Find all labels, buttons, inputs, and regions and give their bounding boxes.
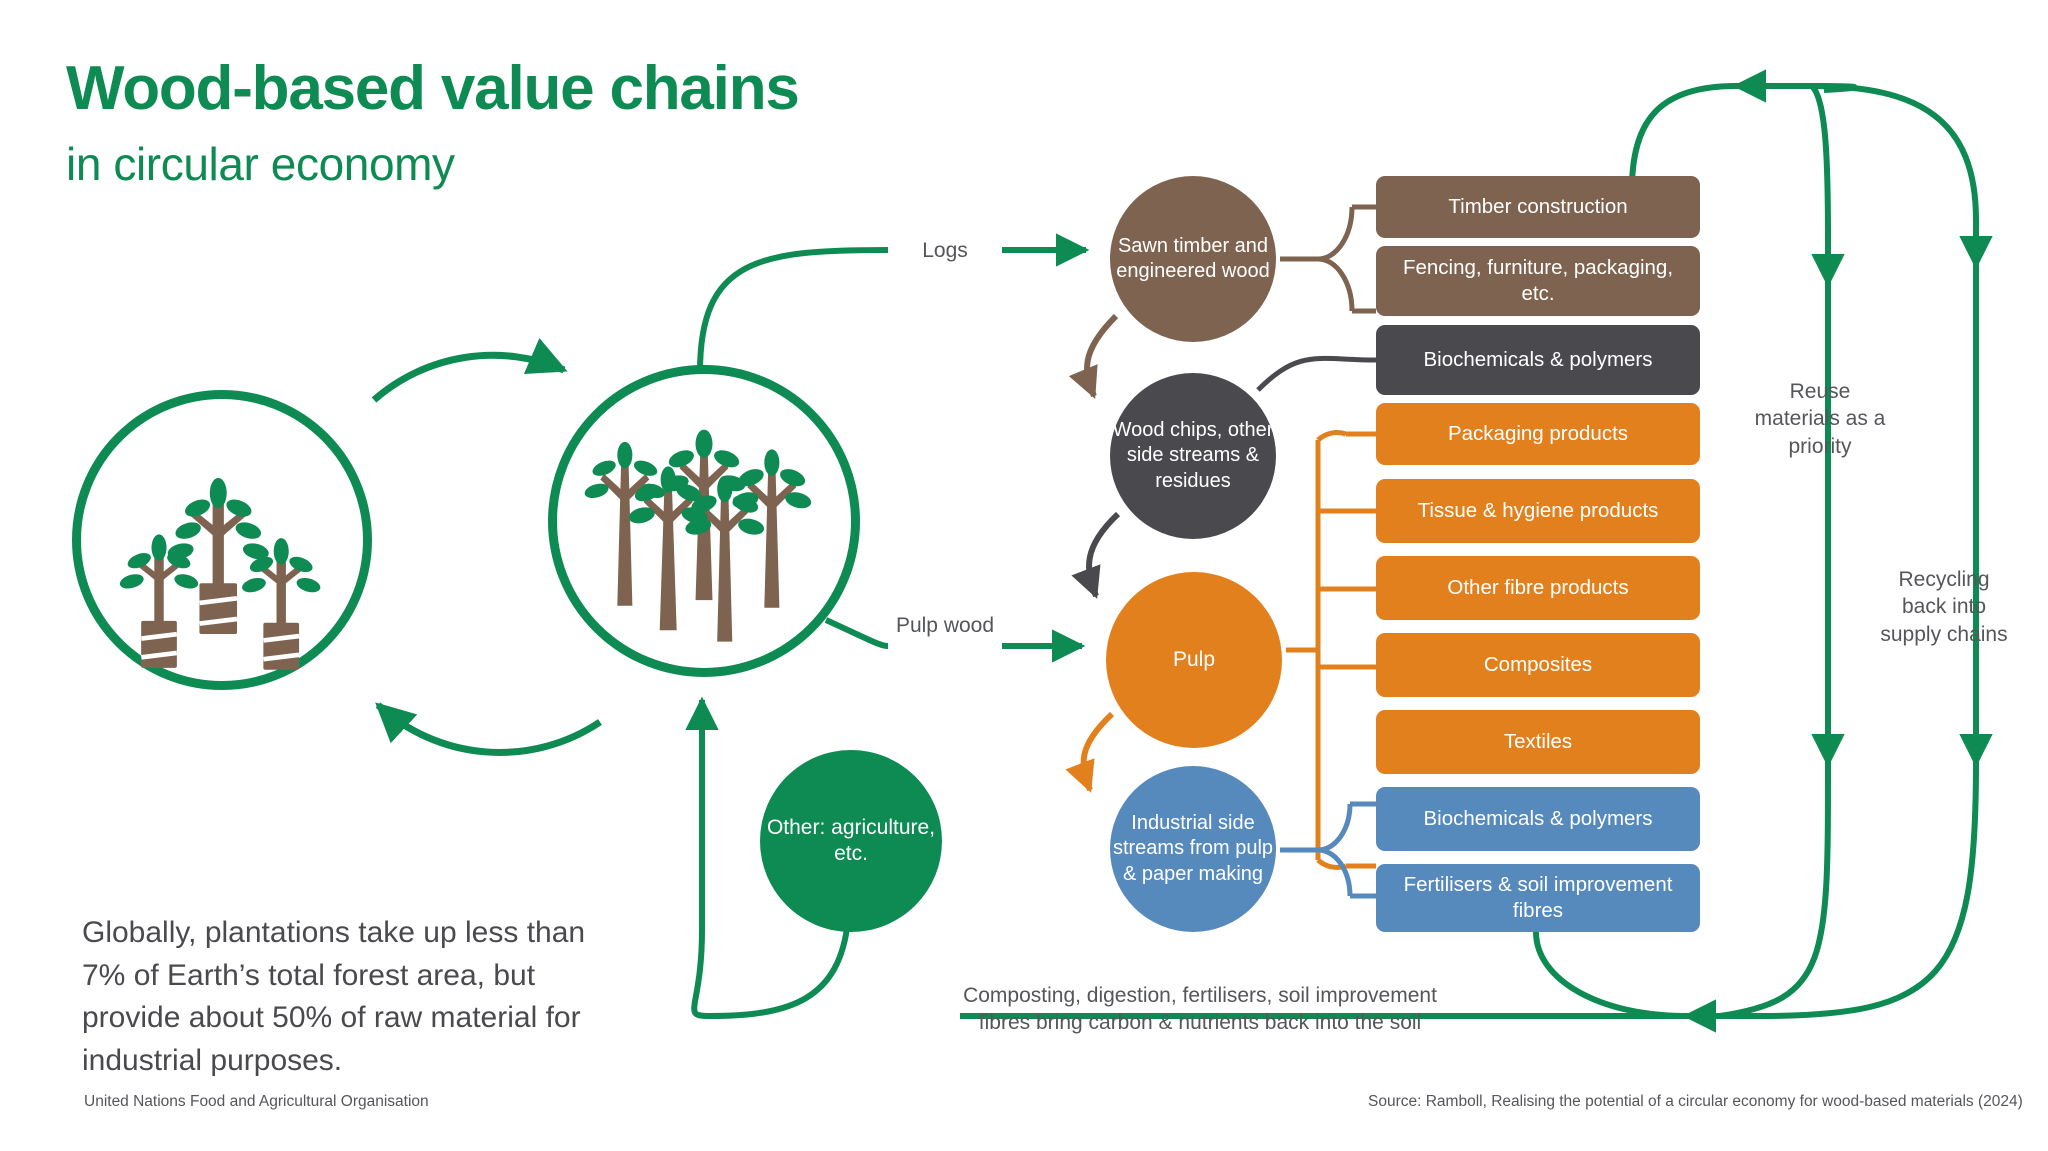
- tree-saplings-icon: [72, 390, 372, 690]
- flow-label-pulp-wood: Pulp wood: [895, 612, 995, 639]
- infographic-canvas: Wood-based value chains in circular econ…: [0, 0, 2048, 1151]
- flow-label-reuse: Reuse materials as a priority: [1750, 378, 1890, 460]
- reuse-loop: [1632, 86, 1854, 183]
- chips-product-connector: [1258, 358, 1376, 390]
- flow-label-composting: Composting, digestion, fertilisers, soil…: [960, 982, 1440, 1037]
- product-box-fertilisers-soil[interactable]: Fertilisers & soil improvement fibres: [1376, 864, 1700, 932]
- product-box-biochemicals-polymers-pulp[interactable]: Biochemicals & polymers: [1376, 787, 1700, 851]
- flow-label-logs: Logs: [895, 237, 995, 264]
- sawn-product-bracket: [1280, 207, 1376, 311]
- product-box-textiles[interactable]: Textiles: [1376, 710, 1700, 774]
- product-box-packaging-products[interactable]: Packaging products: [1376, 403, 1700, 465]
- report-source-citation: Source: Ramboll, Realising the potential…: [1368, 1093, 2023, 1111]
- reuse-downstream: [1720, 86, 1828, 1016]
- product-label: Biochemicals & polymers: [1424, 806, 1653, 832]
- statistic-source: United Nations Food and Agricultural Org…: [84, 1093, 429, 1111]
- product-label: Textiles: [1504, 729, 1572, 755]
- pulp-product-bracket: [1286, 433, 1376, 868]
- product-label: Biochemicals & polymers: [1424, 347, 1653, 373]
- node-industrial-side-streams-label: Industrial side streams from pulp & pape…: [1110, 811, 1276, 887]
- product-box-tissue-hygiene[interactable]: Tissue & hygiene products: [1376, 479, 1700, 543]
- recycling-loop: [1760, 86, 1976, 1016]
- other-to-forest-arrow: [694, 700, 710, 1016]
- node-pulp-label: Pulp: [1173, 647, 1215, 673]
- statistic-statement: Globally, plantations take up less than …: [82, 912, 602, 1082]
- pulp-to-sidestreams-arrow: [1084, 714, 1112, 790]
- node-wood-chips[interactable]: Wood chips, other side streams & residue…: [1110, 373, 1276, 539]
- forest-trees-icon: [548, 365, 860, 677]
- node-pulp[interactable]: Pulp: [1106, 572, 1282, 748]
- node-sawn-timber-label: Sawn timber and engineered wood: [1110, 234, 1276, 284]
- product-box-timber-construction[interactable]: Timber construction: [1376, 176, 1700, 238]
- sidestream-product-bracket: [1280, 804, 1376, 896]
- node-other-agriculture[interactable]: Other: agriculture, etc.: [760, 750, 942, 932]
- node-industrial-side-streams[interactable]: Industrial side streams from pulp & pape…: [1110, 766, 1276, 932]
- flow-label-recycling: Recycling back into supply chains: [1874, 566, 2014, 648]
- product-label: Fencing, furniture, packaging, etc.: [1386, 255, 1690, 307]
- node-other-agriculture-label: Other: agriculture, etc.: [760, 815, 942, 868]
- product-label: Packaging products: [1448, 421, 1628, 447]
- logs-flow: [700, 250, 1086, 372]
- page-subtitle: in circular economy: [66, 137, 455, 191]
- product-label: Timber construction: [1448, 194, 1627, 220]
- sawn-to-chips-arrow: [1087, 316, 1116, 396]
- page-title: Wood-based value chains: [66, 57, 799, 120]
- product-box-composites[interactable]: Composites: [1376, 633, 1700, 697]
- chips-to-pulp-arrow: [1089, 514, 1118, 596]
- product-label: Tissue & hygiene products: [1418, 498, 1659, 524]
- product-box-biochemicals-polymers-wood[interactable]: Biochemicals & polymers: [1376, 325, 1700, 395]
- node-wood-chips-label: Wood chips, other side streams & residue…: [1110, 418, 1276, 494]
- product-label: Composites: [1484, 652, 1592, 678]
- product-box-fencing-furniture[interactable]: Fencing, furniture, packaging, etc.: [1376, 246, 1700, 316]
- product-label: Fertilisers & soil improvement fibres: [1386, 872, 1690, 924]
- product-box-other-fibre-products[interactable]: Other fibre products: [1376, 556, 1700, 620]
- product-label: Other fibre products: [1447, 575, 1628, 601]
- node-sawn-timber[interactable]: Sawn timber and engineered wood: [1110, 176, 1276, 342]
